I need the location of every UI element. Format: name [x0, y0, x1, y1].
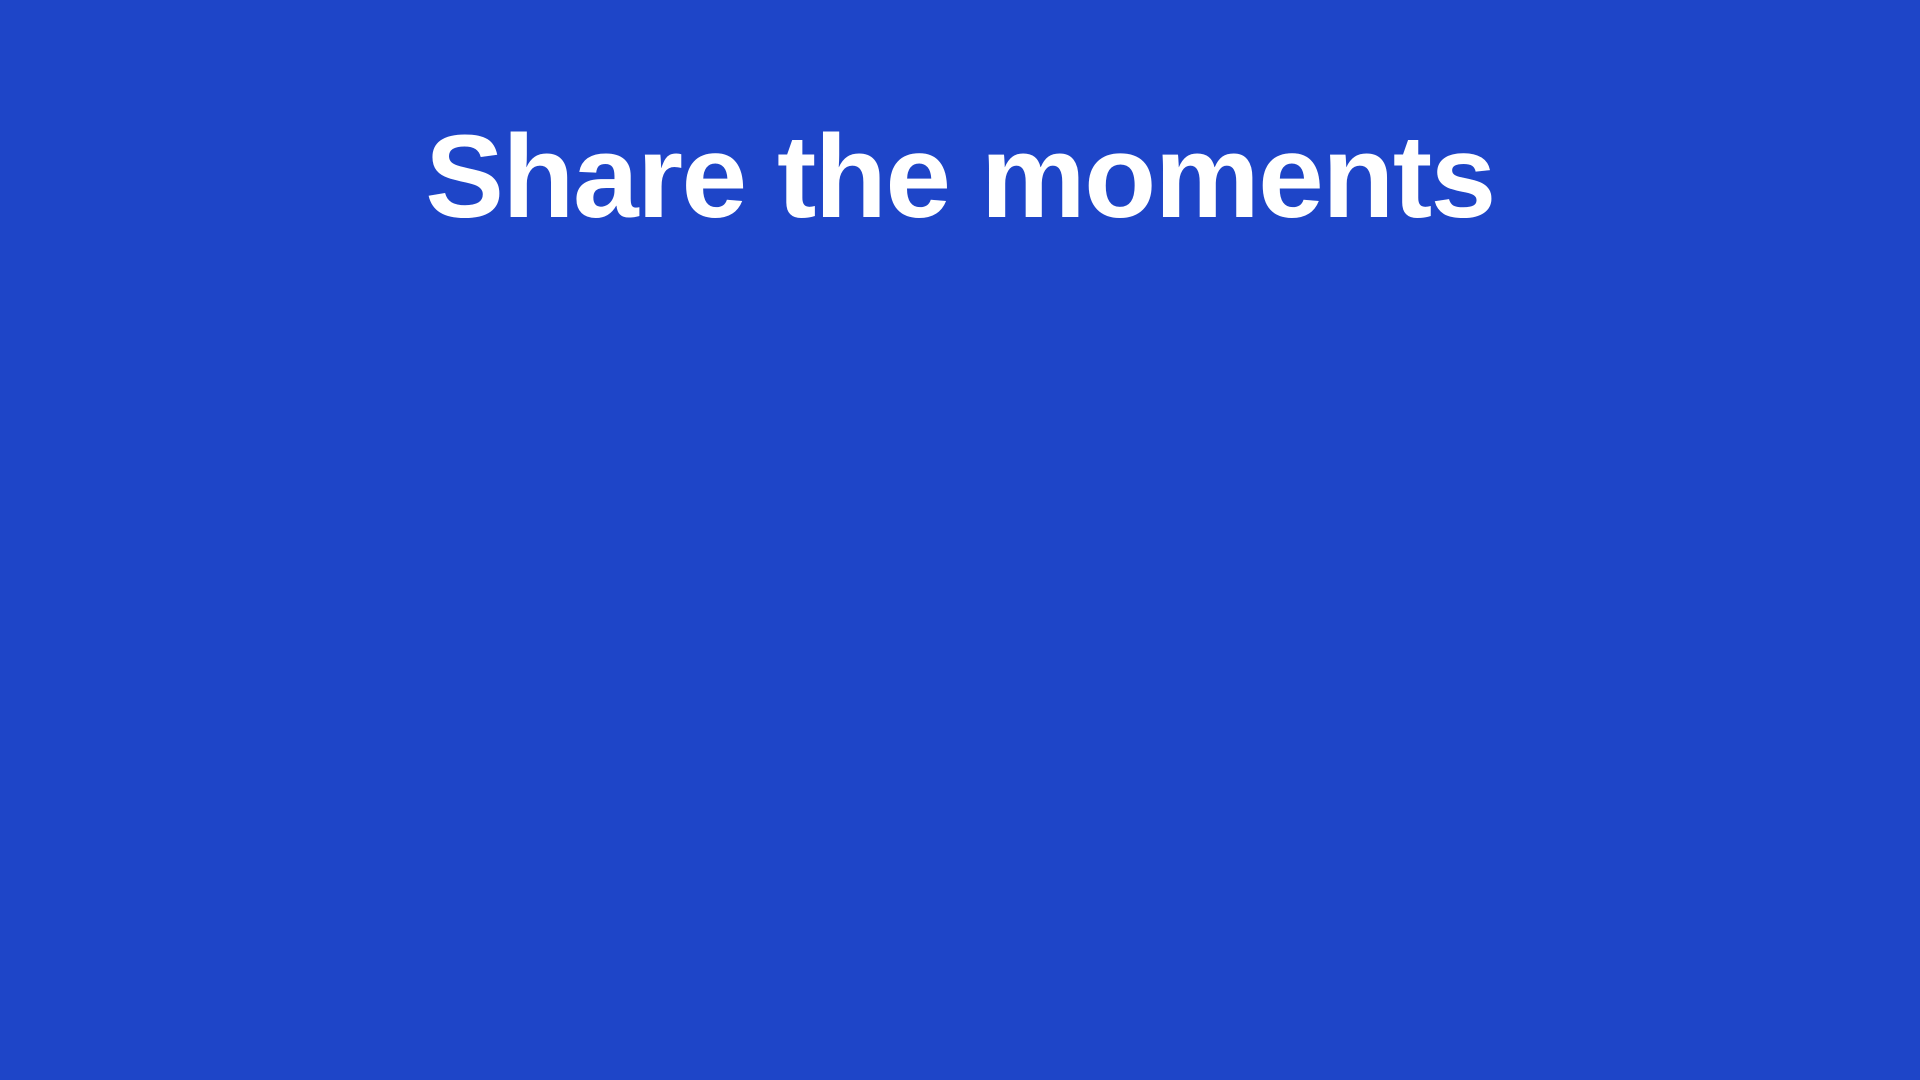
page-title: Share the moments	[425, 118, 1495, 236]
slide-canvas: Share the moments	[0, 0, 1920, 1080]
headline-block: Share the moments	[0, 0, 1920, 236]
